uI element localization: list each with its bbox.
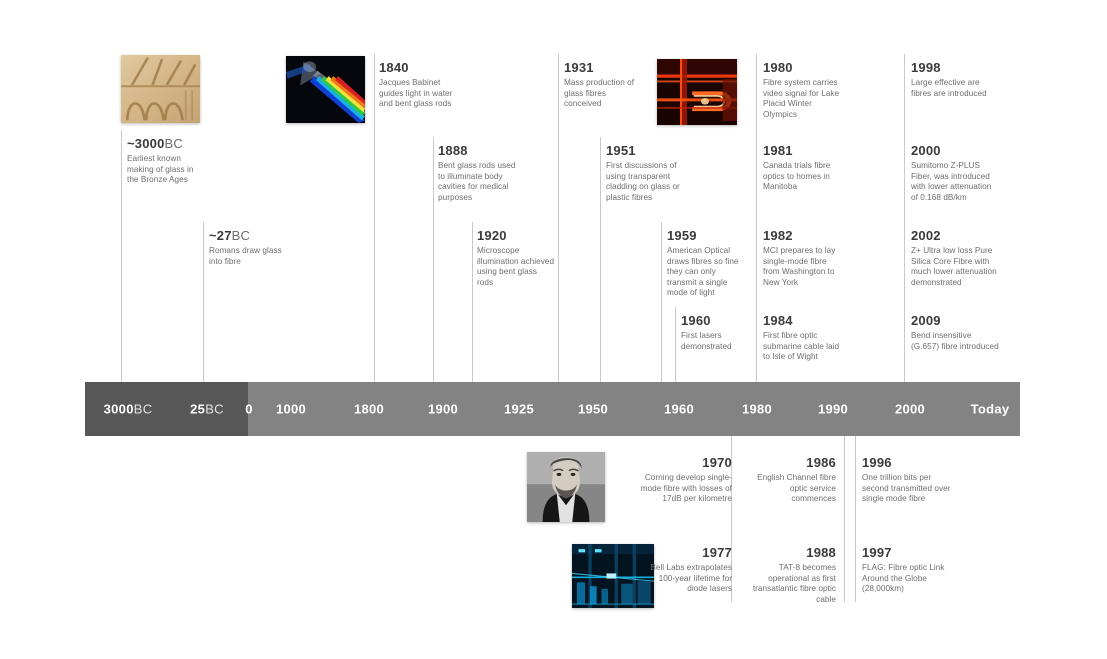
- axis-tick-value: 1980: [742, 402, 772, 417]
- event-description: TAT-8 becomes operational as first trans…: [752, 563, 836, 605]
- event-description: Z+ Ultra low loss Pure Silica Core Fibre…: [911, 246, 1003, 288]
- axis-tick-value: 1990: [818, 402, 848, 417]
- event-2000: 2000Sumitomo Z-PLUS Fiber, was introduce…: [911, 143, 999, 203]
- event-2002: 2002Z+ Ultra low loss Pure Silica Core F…: [911, 228, 1003, 288]
- axis-tick-today: Today: [971, 402, 1010, 417]
- event-year-value: 1997: [862, 545, 892, 560]
- axis-tick-value: 3000: [104, 402, 134, 417]
- event-1888: 1888Bent glass rods used to illuminate b…: [438, 143, 520, 203]
- event-1984: 1984First fibre optic submarine cable la…: [763, 313, 843, 363]
- event-year-value: 1840: [379, 60, 409, 75]
- event-1998: 1998Large effective are fibres are intro…: [911, 60, 999, 99]
- axis-tick-value: 1925: [504, 402, 534, 417]
- event-1920: 1920Microscope illumination achieved usi…: [477, 228, 555, 288]
- event-1959: 1959American Optical draws fibres so fin…: [667, 228, 745, 299]
- event-1960: 1960First lasers demonstrated: [681, 313, 753, 352]
- rule-1998s: [904, 54, 905, 382]
- photo-bronze-age-carving: [121, 55, 200, 123]
- axis-tick-value: 2000: [895, 402, 925, 417]
- axis-tick-1960: 1960: [664, 402, 694, 417]
- event-1981: 1981Canada trials fibre optics to homes …: [763, 143, 843, 193]
- event-description: Bend insensitive (G.657) fibre introduce…: [911, 331, 999, 352]
- event-year: ~3000BC: [127, 136, 205, 151]
- event-description: FLAG: Fibre optic Link Around the Globe …: [862, 563, 960, 595]
- event-year-suffix: BC: [165, 136, 183, 151]
- event-year-value: 1959: [667, 228, 697, 243]
- axis-tick-1000: 1000: [276, 402, 306, 417]
- event-year: 1951: [606, 143, 690, 158]
- rule-below-855: [855, 436, 856, 602]
- event-year: 1986: [752, 455, 836, 470]
- event-1970: 1970Corning develop single-mode fibre wi…: [640, 455, 732, 505]
- axis-tick-value: 1800: [354, 402, 384, 417]
- event-description: Earliest known making of glass in the Br…: [127, 154, 205, 186]
- event-1982: 1982MCI prepares to lay single-mode fibr…: [763, 228, 843, 288]
- timeline-axis-bar[interactable]: 3000BC25BC010001800190019251950196019801…: [85, 382, 1020, 436]
- axis-tick-value: 1900: [428, 402, 458, 417]
- timeline-infographic: ~3000BCEarliest known making of glass in…: [0, 0, 1107, 659]
- axis-tick-value: 25: [190, 402, 205, 417]
- event-year-value: 2000: [911, 143, 941, 158]
- axis-tick-1800: 1800: [354, 402, 384, 417]
- event-1951: 1951First discussions of using transpare…: [606, 143, 690, 203]
- event-description: Bell Labs extrapolates 100-year lifetime…: [640, 563, 732, 595]
- event-1980: 1980Fibre system carries video signal fo…: [763, 60, 843, 120]
- event-year: 1888: [438, 143, 520, 158]
- photo-prism-spectrum: [286, 56, 365, 123]
- event-description: Sumitomo Z-PLUS Fiber, was introduced wi…: [911, 161, 999, 203]
- event-year: 1997: [862, 545, 960, 560]
- event-year-value: 2002: [911, 228, 941, 243]
- axis-tick-value: 1950: [578, 402, 608, 417]
- axis-tick-value: 0: [245, 402, 253, 417]
- photo-molten-glass-furnace: [657, 59, 737, 125]
- event-1997: 1997FLAG: Fibre optic Link Around the Gl…: [862, 545, 960, 595]
- event-year: 1960: [681, 313, 753, 328]
- axis-tick-1980: 1980: [742, 402, 772, 417]
- event-year: 1840: [379, 60, 467, 75]
- event-year: 2002: [911, 228, 1003, 243]
- event-description: First fibre optic submarine cable laid t…: [763, 331, 843, 363]
- axis-tick-0: 0: [245, 402, 253, 417]
- event-year-value: 2009: [911, 313, 941, 328]
- event-description: American Optical draws fibres so fine th…: [667, 246, 745, 299]
- event-year: 1920: [477, 228, 555, 243]
- event-year-value: 1981: [763, 143, 793, 158]
- event-1988: 1988TAT-8 becomes operational as first t…: [752, 545, 836, 605]
- event-description: Fibre system carries video signal for La…: [763, 78, 843, 120]
- event-year: 2000: [911, 143, 999, 158]
- event-year-suffix: BC: [232, 228, 250, 243]
- event-description: Large effective are fibres are introduce…: [911, 78, 999, 99]
- axis-tick-3000bc: 3000BC: [104, 402, 153, 417]
- event-description: Corning develop single-mode fibre with l…: [640, 473, 732, 505]
- rule-below-844: [844, 436, 845, 602]
- event-description: Romans draw glass into fibre: [209, 246, 287, 267]
- event-year: 1981: [763, 143, 843, 158]
- axis-tick-1950: 1950: [578, 402, 608, 417]
- event-description: First lasers demonstrated: [681, 331, 753, 352]
- photo-tyndall-portrait: [527, 452, 605, 522]
- rule-1951: [600, 137, 601, 382]
- event-year: 2009: [911, 313, 999, 328]
- rule-3000bc: [121, 130, 122, 382]
- event-description: Mass production of glass fibres conceive…: [564, 78, 644, 110]
- rule-1840: [374, 54, 375, 382]
- event-3000bc: ~3000BCEarliest known making of glass in…: [127, 136, 205, 186]
- event-year: 1977: [640, 545, 732, 560]
- event-year-value: 1998: [911, 60, 941, 75]
- event-year: 1959: [667, 228, 745, 243]
- axis-tick-1990: 1990: [818, 402, 848, 417]
- event-year: 1982: [763, 228, 843, 243]
- rule-1888: [433, 137, 434, 382]
- event-2009: 2009Bend insensitive (G.657) fibre intro…: [911, 313, 999, 352]
- event-description: Microscope illumination achieved using b…: [477, 246, 555, 288]
- rule-1960: [675, 307, 676, 382]
- event-year: 1988: [752, 545, 836, 560]
- event-year: 1996: [862, 455, 960, 470]
- axis-tick-value: 1000: [276, 402, 306, 417]
- event-year: 1931: [564, 60, 644, 75]
- event-year-value: 1982: [763, 228, 793, 243]
- event-description: First discussions of using transparent c…: [606, 161, 690, 203]
- event-year-value: ~27: [209, 228, 232, 243]
- event-1840: 1840Jacques Babinet guides light in wate…: [379, 60, 467, 110]
- event-1996: 1996One trillion bits per second transmi…: [862, 455, 960, 505]
- event-description: Bent glass rods used to illuminate body …: [438, 161, 520, 203]
- event-description: English Channel fibre optic service comm…: [752, 473, 836, 505]
- event-year-value: 1980: [763, 60, 793, 75]
- rule-1931: [558, 54, 559, 382]
- event-year-value: 1986: [806, 455, 836, 470]
- event-year-value: 1977: [702, 545, 732, 560]
- axis-tick-value: 1960: [664, 402, 694, 417]
- event-year: 1984: [763, 313, 843, 328]
- event-year-value: 1951: [606, 143, 636, 158]
- event-year-value: 1996: [862, 455, 892, 470]
- axis-tick-value: Today: [971, 402, 1010, 417]
- axis-tick-1925: 1925: [504, 402, 534, 417]
- axis-tick-2000: 2000: [895, 402, 925, 417]
- event-27bc: ~27BCRomans draw glass into fibre: [209, 228, 287, 267]
- event-year-value: 1970: [702, 455, 732, 470]
- rule-1959: [661, 222, 662, 382]
- axis-tick-suffix: BC: [134, 402, 153, 417]
- event-description: Canada trials fibre optics to homes in M…: [763, 161, 843, 193]
- event-year-value: 1888: [438, 143, 468, 158]
- event-year: 1980: [763, 60, 843, 75]
- event-1977: 1977Bell Labs extrapolates 100-year life…: [640, 545, 732, 595]
- axis-tick-25bc: 25BC: [190, 402, 224, 417]
- event-year-value: 1931: [564, 60, 594, 75]
- event-description: One trillion bits per second transmitted…: [862, 473, 960, 505]
- event-year-value: 1920: [477, 228, 507, 243]
- axis-tick-suffix: BC: [205, 402, 224, 417]
- event-year: 1970: [640, 455, 732, 470]
- event-description: Jacques Babinet guides light in water an…: [379, 78, 467, 110]
- event-description: MCI prepares to lay single-mode fibre fr…: [763, 246, 843, 288]
- event-year: ~27BC: [209, 228, 287, 243]
- event-1931: 1931Mass production of glass fibres conc…: [564, 60, 644, 110]
- event-year-value: 1960: [681, 313, 711, 328]
- rule-1980s: [756, 54, 757, 382]
- event-year-value: 1984: [763, 313, 793, 328]
- event-year: 1998: [911, 60, 999, 75]
- rule-1920: [472, 222, 473, 382]
- event-1986: 1986English Channel fibre optic service …: [752, 455, 836, 505]
- event-year-value: 1988: [806, 545, 836, 560]
- event-year-value: ~3000: [127, 136, 165, 151]
- rule-27bc: [203, 222, 204, 382]
- axis-tick-1900: 1900: [428, 402, 458, 417]
